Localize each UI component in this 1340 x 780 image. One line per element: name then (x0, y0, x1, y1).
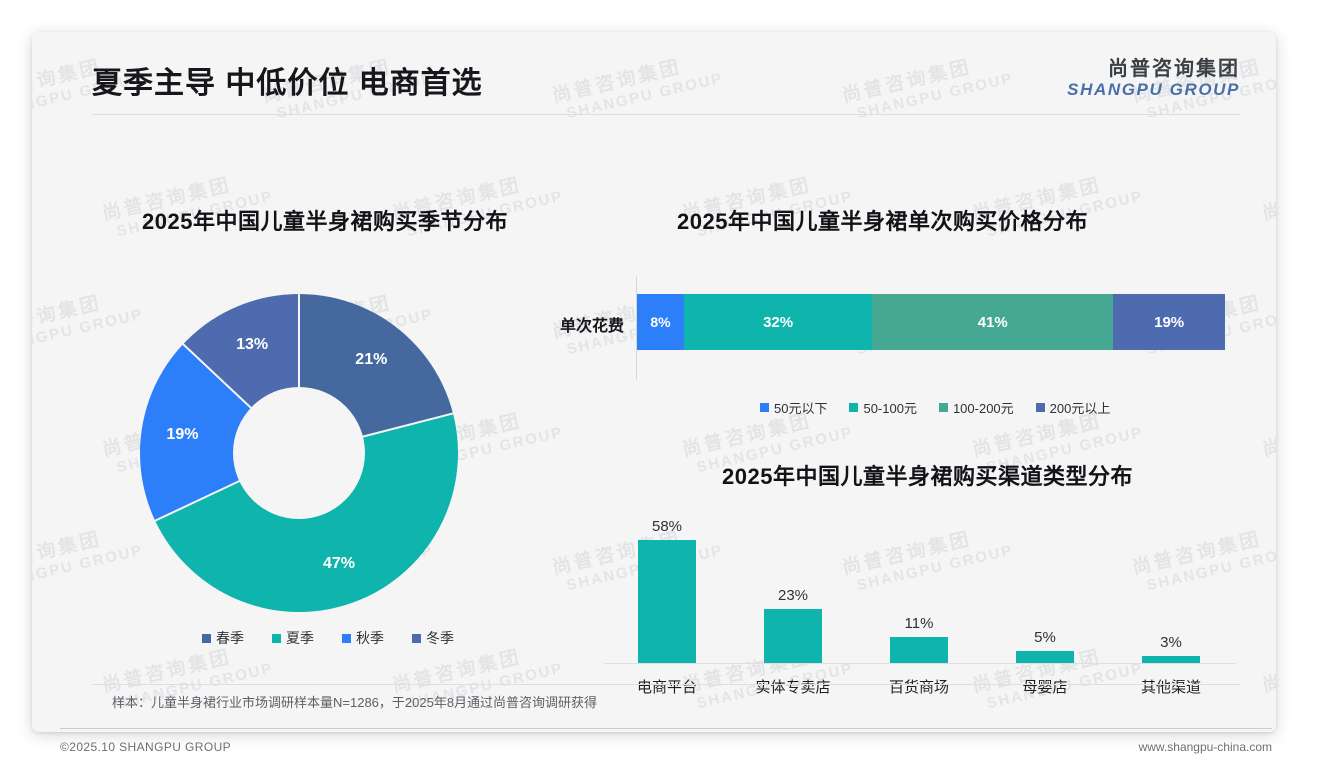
column-bar[interactable] (1142, 656, 1200, 663)
column-bar[interactable] (638, 540, 696, 663)
column-chart-bar-group[interactable]: 5% (982, 518, 1108, 663)
donut-legend: 春季夏季秋季冬季 (202, 628, 454, 648)
stacked-bar-legend-item[interactable]: 100-200元 (939, 398, 1014, 417)
stacked-bar-segment-value: 32% (763, 314, 793, 331)
watermark: 尚普咨询集团SHANGPU GROUP (1259, 161, 1276, 242)
donut-chart: 21%47%19%13% (140, 294, 458, 612)
column-chart-title: 2025年中国儿童半身裙购买渠道类型分布 (722, 459, 1133, 491)
stacked-bar-segment-value: 8% (650, 314, 670, 330)
column-bar-category-label: 百货商场 (856, 676, 982, 697)
legend-swatch-icon (1036, 403, 1045, 412)
legend-swatch-icon (202, 634, 211, 643)
donut-chart-title: 2025年中国儿童半身裙购买季节分布 (142, 204, 508, 236)
slide-header: 夏季主导 中低价位 电商首选 尚普咨询集团 SHANGPU GROUP (32, 32, 1276, 118)
column-bar-value-label: 58% (652, 518, 682, 535)
column-bar-category-label: 母婴店 (982, 676, 1108, 697)
sample-footnote: 样本：儿童半身裙行业市场调研样本量N=1286，于2025年8月通过尚普咨询调研… (112, 692, 597, 711)
donut-slice-value: 13% (236, 336, 268, 354)
stacked-bar-legend-label: 50元以下 (774, 398, 827, 417)
legend-swatch-icon (939, 403, 948, 412)
column-chart-bar-group[interactable]: 58% (604, 518, 730, 663)
donut-legend-item[interactable]: 夏季 (272, 628, 314, 648)
copyright-text: ©2025.10 SHANGPU GROUP (60, 740, 231, 754)
donut-slice-value: 21% (355, 351, 387, 369)
column-chart-bar-group[interactable]: 3% (1108, 518, 1234, 663)
donut-legend-item[interactable]: 春季 (202, 628, 244, 648)
stacked-bar-legend-label: 200元以上 (1050, 398, 1111, 417)
legend-swatch-icon (412, 634, 421, 643)
stacked-bar-segment[interactable]: 8% (637, 294, 684, 350)
column-bar[interactable] (764, 609, 822, 663)
column-chart-plot: 58%电商平台23%实体专卖店11%百货商场5%母婴店3%其他渠道 (604, 518, 1236, 664)
stacked-bar-legend-item[interactable]: 50-100元 (849, 398, 916, 417)
column-chart-bar-group[interactable]: 11% (856, 518, 982, 663)
donut-legend-item[interactable]: 秋季 (342, 628, 384, 648)
stacked-bar-category-label: 单次花费 (532, 312, 624, 336)
donut-slice-separator (298, 294, 300, 453)
column-bar[interactable] (1016, 651, 1074, 663)
footnote-divider (92, 684, 1240, 685)
legend-swatch-icon (760, 403, 769, 412)
website-url: www.shangpu-china.com (1139, 740, 1272, 754)
logo-chinese-text: 尚普咨询集团 (1067, 58, 1240, 80)
watermark: 尚普咨询集团SHANGPU GROUP (1259, 397, 1276, 478)
stacked-bar-chart-title: 2025年中国儿童半身裙单次购买价格分布 (677, 204, 1088, 236)
watermark: 尚普咨询集团SHANGPU GROUP (32, 515, 145, 596)
watermark: 尚普咨询集团SHANGPU GROUP (1259, 633, 1276, 714)
column-chart: 58%电商平台23%实体专卖店11%百货商场5%母婴店3%其他渠道 (604, 518, 1236, 664)
page-title: 夏季主导 中低价位 电商首选 (92, 58, 483, 102)
column-bar-value-label: 5% (1034, 629, 1056, 646)
slide-canvas: 尚普咨询集团SHANGPU GROUP尚普咨询集团SHANGPU GROUP尚普… (32, 32, 1276, 732)
column-chart-bar-group[interactable]: 23% (730, 518, 856, 663)
stacked-bar-legend: 50元以下50-100元100-200元200元以上 (760, 398, 1110, 417)
stacked-bar-legend-label: 50-100元 (863, 398, 916, 417)
stacked-bar-segment[interactable]: 41% (872, 294, 1113, 350)
column-chart-baseline (604, 663, 1236, 664)
legend-swatch-icon (849, 403, 858, 412)
stacked-bar-segment[interactable]: 19% (1113, 294, 1225, 350)
brand-logo: 尚普咨询集团 SHANGPU GROUP (1067, 58, 1240, 99)
column-bar-value-label: 23% (778, 587, 808, 604)
donut-legend-label: 夏季 (286, 628, 314, 648)
legend-swatch-icon (272, 634, 281, 643)
stacked-bar-legend-label: 100-200元 (953, 398, 1014, 417)
column-bar-value-label: 11% (905, 615, 934, 632)
donut-slice-value: 19% (166, 426, 198, 444)
stacked-bar-track: 8%32%41%19% (637, 294, 1225, 350)
stacked-bar-segment[interactable]: 32% (684, 294, 872, 350)
donut-legend-label: 春季 (216, 628, 244, 648)
column-bar-category-label: 实体专卖店 (730, 676, 856, 697)
donut-ring: 21%47%19%13% (140, 294, 458, 612)
column-bar[interactable] (890, 637, 948, 663)
footer-divider (60, 728, 1272, 729)
donut-legend-item[interactable]: 冬季 (412, 628, 454, 648)
donut-slice-value: 47% (323, 555, 355, 573)
legend-swatch-icon (342, 634, 351, 643)
column-bar-category-label: 其他渠道 (1108, 676, 1234, 697)
watermark: 尚普咨询集团SHANGPU GROUP (32, 279, 145, 360)
column-bar-category-label: 电商平台 (604, 676, 730, 697)
donut-legend-label: 秋季 (356, 628, 384, 648)
logo-english-text: SHANGPU GROUP (1067, 80, 1240, 99)
column-bar-value-label: 3% (1160, 634, 1182, 651)
stacked-bar-legend-item[interactable]: 200元以上 (1036, 398, 1111, 417)
donut-legend-label: 冬季 (426, 628, 454, 648)
stacked-bar-legend-item[interactable]: 50元以下 (760, 398, 827, 417)
stacked-bar-segment-value: 19% (1154, 314, 1184, 331)
stacked-bar-segment-value: 41% (978, 314, 1008, 331)
header-divider (92, 114, 1240, 115)
